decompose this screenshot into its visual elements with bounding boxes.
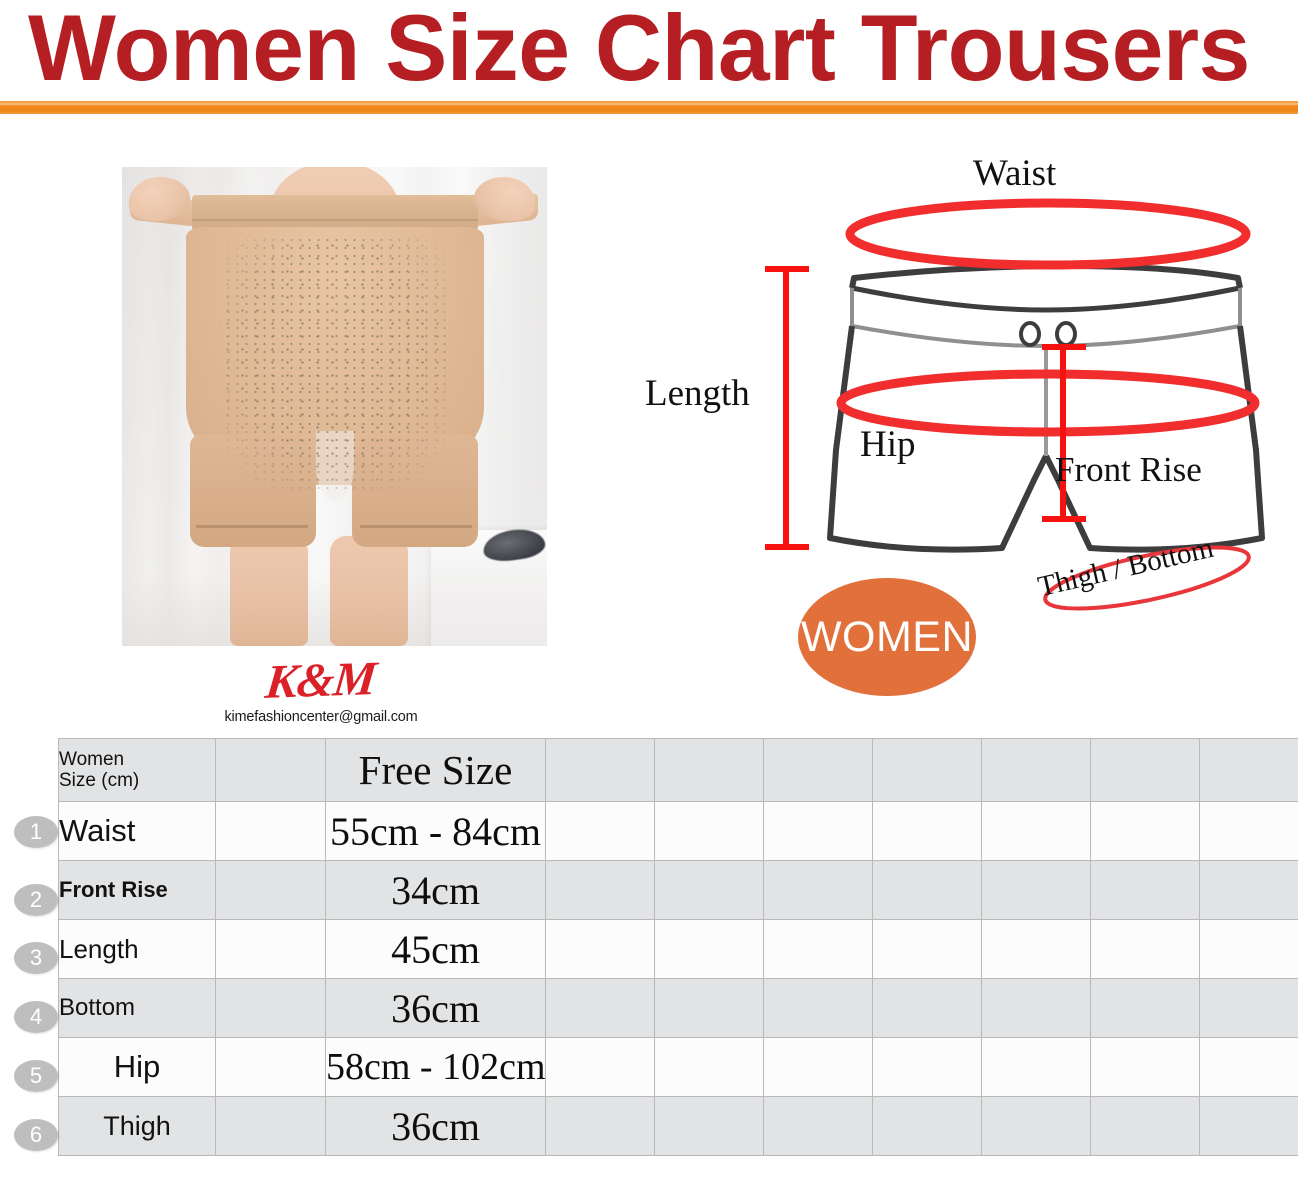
row-number-badge-3: 3: [14, 942, 58, 974]
header-empty-2: [655, 739, 764, 802]
row-value-hip: 58cm - 102cm: [326, 1038, 546, 1097]
row-label-bottom: Bottom: [59, 979, 216, 1038]
row-empty-b6: [1091, 979, 1200, 1038]
waist-ellipse: [850, 203, 1246, 265]
row-empty-t1: [546, 1097, 655, 1156]
measurement-diagram: Waist Length Hip Front Rise Thigh / Bott…: [630, 150, 1290, 730]
row-number-badge-2: 2: [14, 884, 58, 916]
row-empty-b3: [764, 979, 873, 1038]
row-empty-w3: [764, 802, 873, 861]
table-row: Thigh 36cm: [59, 1097, 1298, 1156]
row-empty-t2: [655, 1097, 764, 1156]
brand-mark: K&M: [264, 653, 379, 709]
shapewear-garment: [174, 195, 496, 550]
row-number-badge-6: 6: [14, 1119, 58, 1151]
garment-dot-pattern: [220, 239, 450, 489]
row-empty-l6: [1091, 920, 1200, 979]
row-empty-b7: [1200, 979, 1298, 1038]
row-empty-b4: [873, 979, 982, 1038]
row-empty-l1: [546, 920, 655, 979]
row-empty-l7: [1200, 920, 1298, 979]
row-empty-w5: [982, 802, 1091, 861]
row-gap-hip: [216, 1038, 326, 1097]
front-rise-label: Front Rise: [1055, 450, 1202, 490]
header-line-1: Women: [59, 749, 215, 770]
row-empty-f5: [982, 861, 1091, 920]
row-empty-h4: [873, 1038, 982, 1097]
header-line-2: Size (cm): [59, 770, 215, 791]
brand-logo: K&M kimefashioncenter@gmail.com: [196, 655, 446, 735]
header-empty-1: [546, 739, 655, 802]
row-empty-b2: [655, 979, 764, 1038]
row-value-front-rise: 34cm: [326, 861, 546, 920]
row-empty-t6: [1091, 1097, 1200, 1156]
row-empty-t5: [982, 1097, 1091, 1156]
row-empty-l3: [764, 920, 873, 979]
row-empty-f4: [873, 861, 982, 920]
row-empty-f7: [1200, 861, 1298, 920]
row-empty-h5: [982, 1038, 1091, 1097]
row-empty-h7: [1200, 1038, 1298, 1097]
model-right-leg: [330, 536, 408, 646]
row-value-waist: 55cm - 84cm: [326, 802, 546, 861]
row-number-badge-4: 4: [14, 1001, 58, 1033]
row-empty-l5: [982, 920, 1091, 979]
header-gap-cell: [216, 739, 326, 802]
table-row: Length 45cm: [59, 920, 1298, 979]
header-size-unit-cell: Women Size (cm): [59, 739, 216, 802]
row-empty-b1: [546, 979, 655, 1038]
row-number-badge-1: 1: [14, 816, 58, 848]
row-empty-f2: [655, 861, 764, 920]
table-header-row: Women Size (cm) Free Size: [59, 739, 1298, 802]
row-label-hip: Hip: [59, 1038, 216, 1097]
women-badge-label: WOMEN: [801, 613, 973, 662]
header-empty-6: [1091, 739, 1200, 802]
row-gap-front-rise: [216, 861, 326, 920]
row-empty-h1: [546, 1038, 655, 1097]
row-empty-f1: [546, 861, 655, 920]
size-chart-table: Women Size (cm) Free Size Waist 55cm - 8…: [58, 738, 1298, 1156]
row-gap-length: [216, 920, 326, 979]
title-banner: Women Size Chart Trousers: [0, 0, 1298, 128]
row-empty-w2: [655, 802, 764, 861]
hip-label: Hip: [860, 423, 916, 466]
women-badge: WOMEN: [798, 578, 976, 696]
row-empty-w1: [546, 802, 655, 861]
table-row: Front Rise 34cm: [59, 861, 1298, 920]
row-empty-f6: [1091, 861, 1200, 920]
row-gap-bottom: [216, 979, 326, 1038]
garment-hem-left: [196, 525, 308, 528]
header-empty-5: [982, 739, 1091, 802]
header-empty-4: [873, 739, 982, 802]
row-empty-w4: [873, 802, 982, 861]
row-empty-b5: [982, 979, 1091, 1038]
row-empty-f3: [764, 861, 873, 920]
brand-email: kimefashioncenter@gmail.com: [196, 709, 446, 725]
row-label-thigh: Thigh: [59, 1097, 216, 1156]
waistband-snaps: [1021, 323, 1075, 345]
title-divider-gloss: [0, 103, 1298, 105]
page-title: Women Size Chart Trousers: [28, 0, 1273, 102]
model-left-leg: [230, 536, 308, 646]
row-empty-l2: [655, 920, 764, 979]
row-empty-t7: [1200, 1097, 1298, 1156]
row-gap-waist: [216, 802, 326, 861]
table-row: Hip 58cm - 102cm: [59, 1038, 1298, 1097]
row-empty-l4: [873, 920, 982, 979]
row-value-thigh: 36cm: [326, 1097, 546, 1156]
row-gap-thigh: [216, 1097, 326, 1156]
row-empty-h6: [1091, 1038, 1200, 1097]
row-empty-t3: [764, 1097, 873, 1156]
row-label-front-rise: Front Rise: [59, 861, 216, 920]
row-label-length: Length: [59, 920, 216, 979]
row-value-length: 45cm: [326, 920, 546, 979]
product-photo: [122, 167, 547, 646]
row-number-badge-5: 5: [14, 1060, 58, 1092]
length-dimension-line: [765, 268, 809, 548]
garment-hem-right: [360, 525, 472, 528]
waist-label: Waist: [973, 152, 1056, 195]
table-row: Waist 55cm - 84cm: [59, 802, 1298, 861]
row-empty-h2: [655, 1038, 764, 1097]
header-free-size-cell: Free Size: [326, 739, 546, 802]
row-empty-t4: [873, 1097, 982, 1156]
row-empty-h3: [764, 1038, 873, 1097]
row-value-bottom: 36cm: [326, 979, 546, 1038]
table-row: Bottom 36cm: [59, 979, 1298, 1038]
garment-waistband: [192, 195, 478, 231]
shorts-illustration: [830, 266, 1262, 550]
header-empty-3: [764, 739, 873, 802]
length-label: Length: [645, 372, 750, 415]
header-empty-7: [1200, 739, 1298, 802]
row-label-waist: Waist: [59, 802, 216, 861]
row-empty-w6: [1091, 802, 1200, 861]
row-empty-w7: [1200, 802, 1298, 861]
